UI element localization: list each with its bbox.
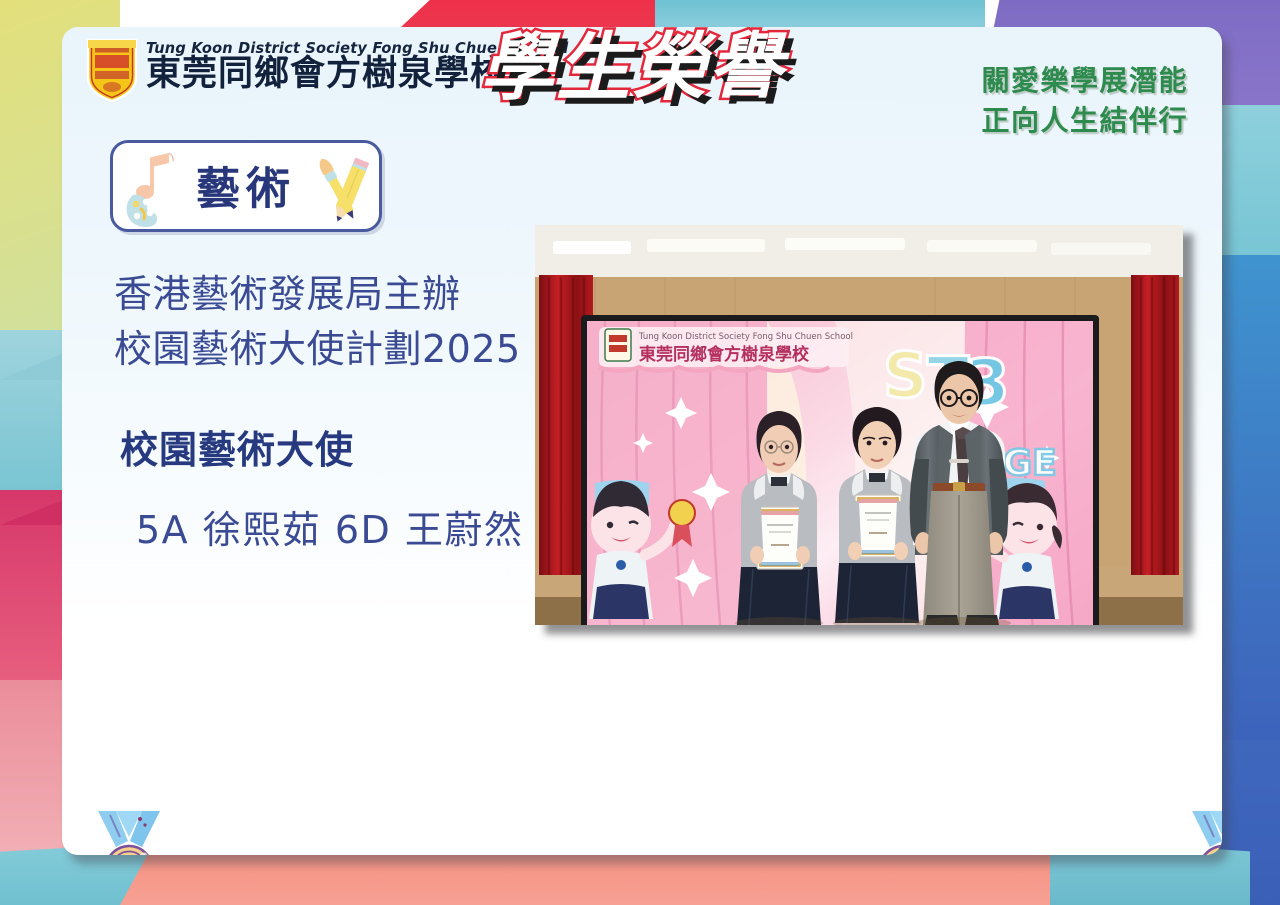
- poster-header: Tung Koon District Society Fong Shu Chue…: [62, 27, 1222, 132]
- honor-poster-card: Tung Koon District Society Fong Shu Chue…: [62, 27, 1222, 855]
- motto-line-2: 正向人生結伴行: [981, 101, 1188, 141]
- award-title: 校園藝術大使: [120, 419, 354, 474]
- category-badge: 藝術: [110, 140, 382, 232]
- svg-text:東莞同鄉會方樹泉學校: 東莞同鄉會方樹泉學校: [639, 344, 810, 365]
- bg-band-teal-top: [655, 0, 985, 30]
- svg-text:S: S: [883, 339, 928, 412]
- event-title: 香港藝術發展局主辦 校園藝術大使計劃2025: [114, 267, 521, 378]
- photo-content: Tung Koon District Society Fong Shu Chue…: [535, 225, 1183, 625]
- gold-medal-icon: [88, 807, 170, 855]
- page-title: 學生榮譽: [480, 27, 784, 113]
- school-crest-shield-icon: [84, 37, 140, 103]
- gold-medal-icon: [1182, 807, 1222, 855]
- pencil-paintbrush-icon: [313, 147, 383, 231]
- bg-band-salmon-bottom: [120, 848, 1160, 905]
- award-ceremony-photo: Tung Koon District Society Fong Shu Chue…: [535, 225, 1183, 625]
- svg-text:Tung Koon District Society Fon: Tung Koon District Society Fong Shu Chue…: [638, 332, 853, 342]
- student-names: 5A 徐熙茹 6D 王蔚然: [136, 499, 523, 554]
- school-motto: 關愛樂學展潛能 正向人生結伴行: [981, 61, 1188, 141]
- motto-line-1: 關愛樂學展潛能: [981, 61, 1188, 101]
